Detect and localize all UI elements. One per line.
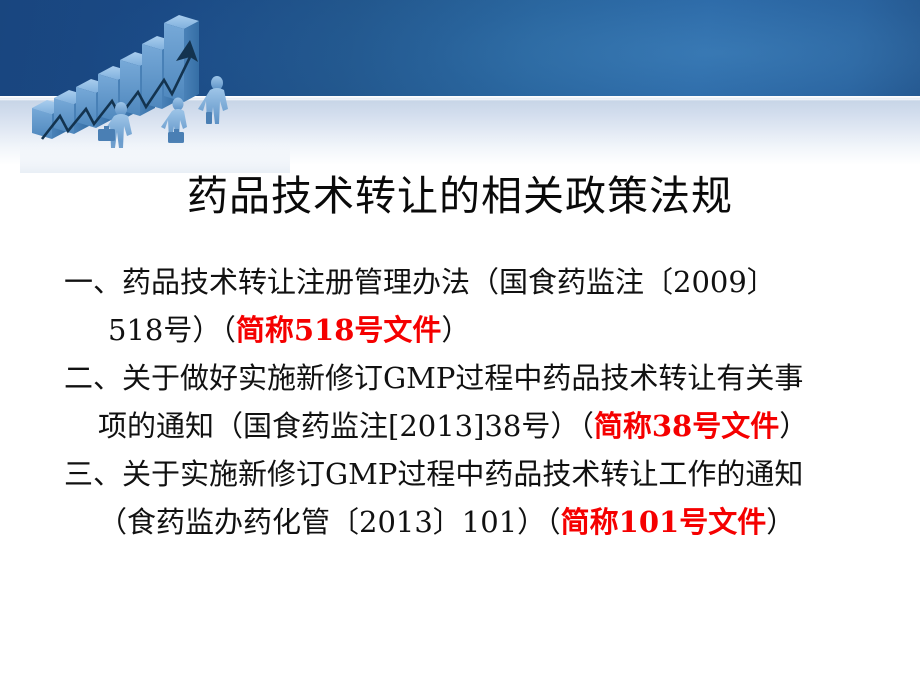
list-item-2-text: 二、关于做好实施新修订GMP过程中药品技术转让有关事: [64, 361, 803, 395]
list-item-1-line-1: 一、药品技术转让注册管理办法（国食药监注〔2009〕: [64, 258, 864, 306]
growth-chart-icon: [20, 8, 290, 173]
figure-3: [198, 76, 228, 124]
slide-root: 药品技术转让的相关政策法规 一、药品技术转让注册管理办法（国食药监注〔2009〕…: [0, 0, 920, 690]
list-item-3-line-1: 三、关于实施新修订GMP过程中药品技术转让工作的通知: [64, 450, 864, 498]
list-item-3-text: 三、关于实施新修订GMP过程中药品技术转让工作的通知: [64, 457, 803, 491]
list-item-3-shortname: 简称101号文件: [561, 505, 767, 539]
list-item-2-line-2: 项的通知（国食药监注[2013]38号）（简称38号文件）: [64, 402, 864, 450]
list-item-2-shortname: 简称38号文件: [594, 409, 779, 443]
list-item-3-close-paren: ）: [766, 505, 795, 539]
list-item-2-cont-text: 项的通知（国食药监注[2013]38号）（: [98, 409, 594, 443]
list-item-1-line-2: 518号）（简称518号文件）: [64, 306, 864, 354]
policy-list: 一、药品技术转让注册管理办法（国食药监注〔2009〕 518号）（简称518号文…: [64, 258, 864, 546]
list-item-2-close-paren: ）: [779, 409, 808, 443]
list-item-1-close-paren: ）: [441, 313, 470, 347]
page-title: 药品技术转让的相关政策法规: [0, 172, 920, 220]
list-item-2-line-1: 二、关于做好实施新修订GMP过程中药品技术转让有关事: [64, 354, 864, 402]
list-item-1-cont-text: 518号）（: [108, 313, 236, 347]
list-item-1-text: 一、药品技术转让注册管理办法（国食药监注〔2009〕: [64, 265, 776, 299]
list-item-1-shortname: 简称518号文件: [236, 313, 442, 347]
list-item-3-cont-text: （食药监办药化管〔2013〕101）（: [98, 505, 561, 539]
list-item-3-line-2: （食药监办药化管〔2013〕101）（简称101号文件）: [64, 498, 864, 546]
